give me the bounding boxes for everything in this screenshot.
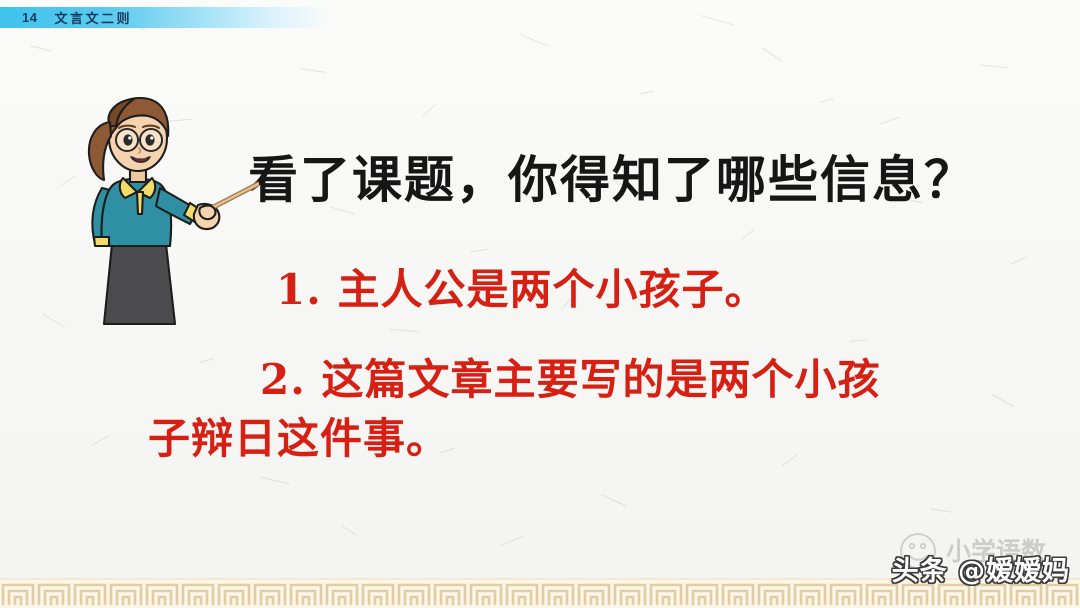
watermark-attribution: 头条 @嫒嫒妈	[892, 549, 1070, 588]
lesson-number: 14	[22, 10, 37, 25]
lesson-banner: 14 文言文二则	[0, 7, 330, 28]
page-title: 看了课题，你得知了哪些信息？	[248, 152, 976, 208]
answer-line-2: 2. 这篇文章主要写的是两个小孩	[260, 356, 880, 404]
lesson-title: 文言文二则	[54, 8, 132, 27]
slide-canvas: 14 文言文二则	[0, 0, 1080, 608]
answer-line-1: 1. 主人公是两个小孩子。	[276, 266, 767, 314]
answer-line-2-continued: 子辩日这件事。	[148, 415, 449, 463]
teacher-illustration	[74, 92, 259, 337]
